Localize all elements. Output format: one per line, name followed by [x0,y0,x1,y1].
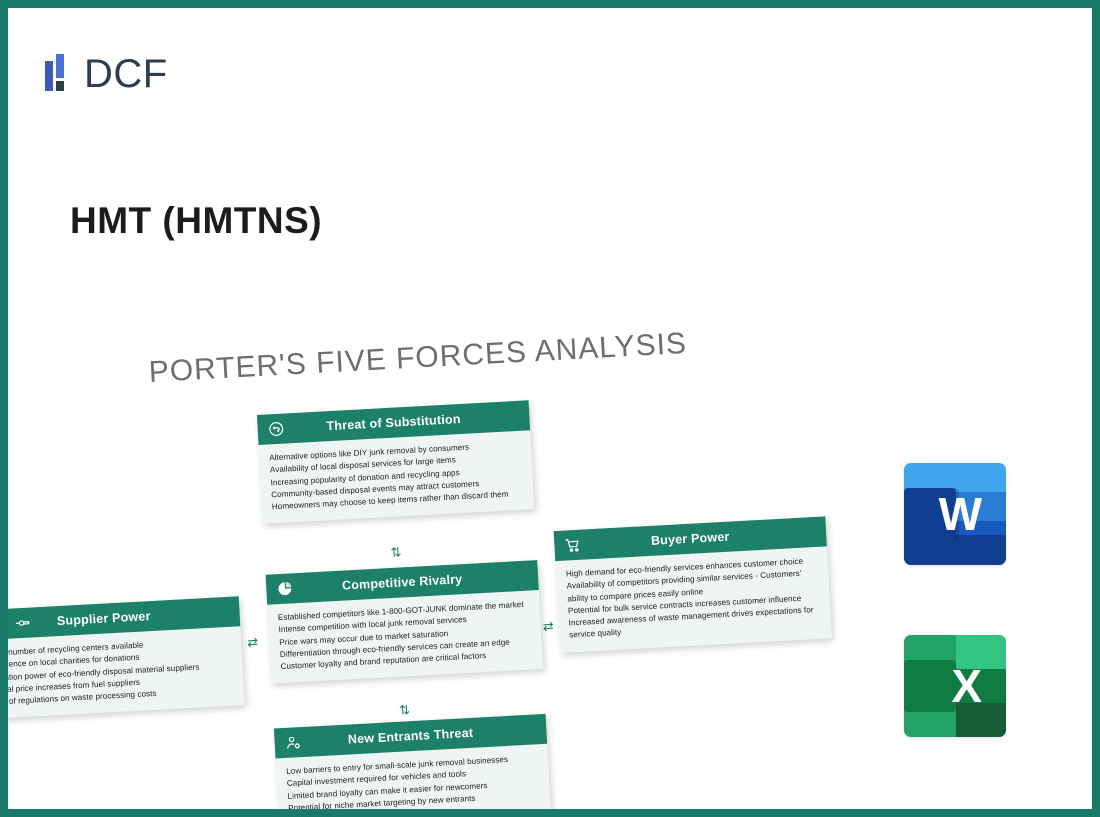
recycle-arrows-icon [267,420,285,438]
excel-letter: X [904,635,1006,737]
microsoft-excel-icon[interactable]: X [904,635,1006,737]
porters-five-forces-diagram: Threat of Substitution Alternative optio… [8,316,860,809]
connector-arrow-bottom: ⇅ [399,703,410,717]
tag-icon [13,614,31,632]
page-canvas: DCF HMT (HMTNS) PORTER'S FIVE FORCES ANA… [8,8,1092,809]
connector-arrow-left: ⇄ [247,635,258,649]
connector-arrow-right: ⇄ [542,619,553,633]
force-card-buyer-power: Buyer Power High demand for eco-friendly… [554,516,832,652]
brand-name: DCF [84,52,168,97]
person-gear-icon [284,734,302,752]
brand-logo-group: DCF [44,52,168,97]
pie-chart-icon [276,580,294,598]
word-letter: W [904,463,1006,565]
card-body: Established competitors like 1-800-GOT-J… [267,590,543,684]
page-title: HMT (HMTNS) [70,200,322,242]
force-card-competitive-rivalry: Competitive Rivalry Established competit… [266,560,544,684]
connector-arrow-top: ⇅ [390,545,401,559]
force-card-threat-of-substitution: Threat of Substitution Alternative optio… [257,400,535,524]
card-body: High demand for eco-friendly services en… [555,546,832,652]
microsoft-word-icon[interactable]: W [904,463,1006,565]
force-card-supplier-power: Supplier Power Limited number of recycli… [8,596,245,720]
shopping-cart-icon [564,536,582,554]
dcf-bars-logo-icon [44,53,74,97]
card-body: Limited number of recycling centers avai… [8,626,245,720]
card-body: Alternative options like DIY junk remova… [259,430,535,524]
force-card-new-entrants-threat: New Entrants Threat Low barriers to entr… [274,714,551,809]
